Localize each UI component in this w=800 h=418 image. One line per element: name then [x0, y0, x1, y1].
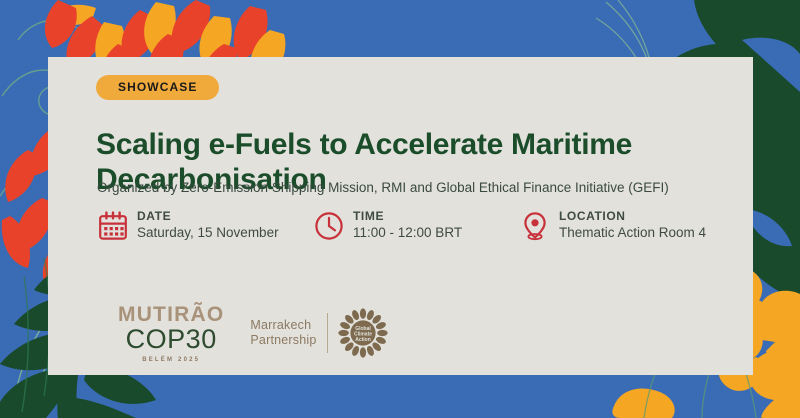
marrakech-line-2: Partnership: [250, 333, 316, 348]
info-label-date: DATE: [137, 209, 279, 224]
cop30-belem-text: BELÉM 2025: [142, 357, 200, 363]
card-content: SHOWCASE Scaling e-Fuels to Accelerate M…: [96, 57, 756, 375]
global-climate-action-emblem: Global Climate Action: [338, 308, 388, 358]
logo-row: MUTIRÃO COP30 BELÉM 2025 Marrakech Partn…: [118, 302, 388, 364]
cop30-mutirao-text: MUTIRÃO: [118, 304, 224, 325]
cop30-wordmark: COP30: [126, 326, 217, 353]
info-value-date: Saturday, 15 November: [137, 224, 279, 242]
organizer-text: Organized by Zero-Emission Shipping Miss…: [97, 179, 747, 197]
location-pin-icon: [520, 211, 550, 241]
showcase-badge: SHOWCASE: [96, 75, 219, 100]
info-item-date: DATE Saturday, 15 November: [98, 209, 279, 242]
title-line-1: Scaling e-Fuels to Accelerate Maritime: [96, 128, 632, 161]
cop30-logo: MUTIRÃO COP30 BELÉM 2025: [118, 304, 224, 363]
clock-icon: [314, 211, 344, 241]
info-value-location: Thematic Action Room 4: [559, 224, 706, 242]
info-item-time: TIME 11:00 - 12:00 BRT: [314, 209, 462, 242]
event-info-row: DATE Saturday, 15 November TIME 11:00 - …: [96, 209, 756, 255]
info-value-time: 11:00 - 12:00 BRT: [353, 224, 462, 242]
calendar-icon: [98, 211, 128, 241]
marrakech-line-1: Marrakech: [250, 318, 316, 333]
marrakech-partnership-logo: Marrakech Partnership: [238, 308, 387, 358]
info-item-location: LOCATION Thematic Action Room 4: [520, 209, 706, 242]
event-banner: SHOWCASE Scaling e-Fuels to Accelerate M…: [0, 0, 800, 418]
marrakech-partnership-text: Marrakech Partnership: [250, 318, 316, 348]
info-label-time: TIME: [353, 209, 462, 224]
logo-divider: [327, 313, 328, 353]
gca-line-3: Action: [355, 337, 371, 343]
info-label-location: LOCATION: [559, 209, 706, 224]
